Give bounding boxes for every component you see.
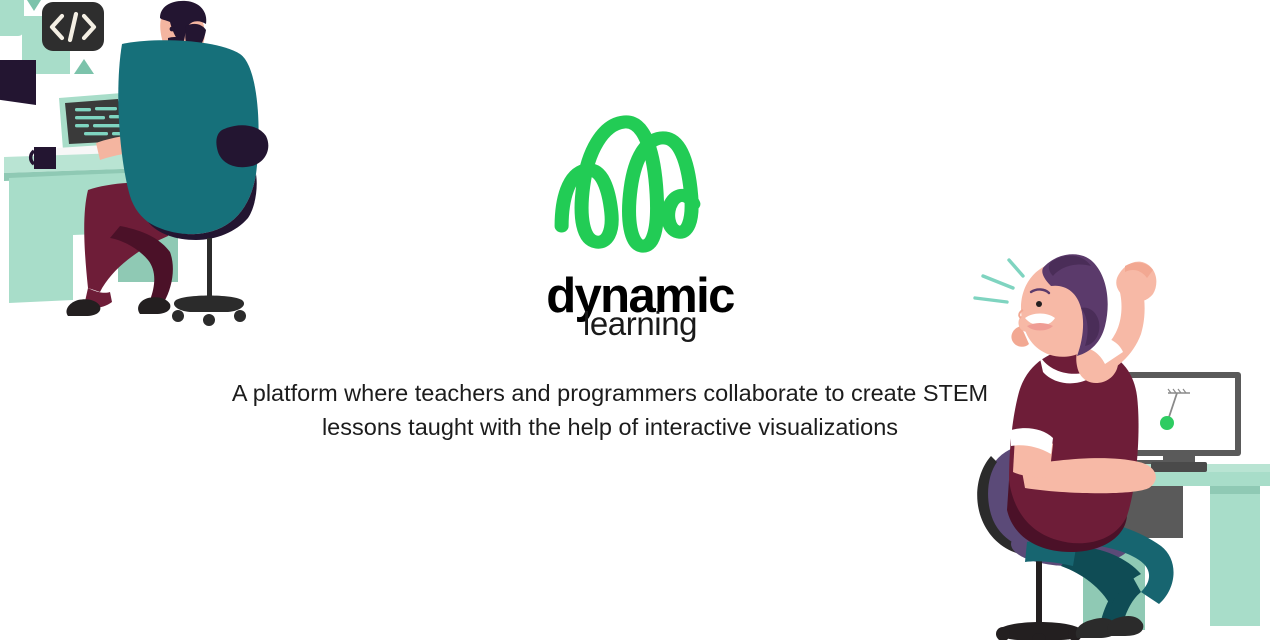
speed-lines-icon xyxy=(975,260,1023,302)
brand-logo xyxy=(510,108,730,258)
laptop-screen xyxy=(65,99,125,144)
pendulum-bob xyxy=(1160,416,1174,430)
eye xyxy=(170,27,175,32)
chair-post xyxy=(1036,554,1042,632)
deco-rect-dark xyxy=(0,60,36,105)
hero-tagline: A platform where teachers and programmer… xyxy=(230,376,990,444)
coffee-mug xyxy=(31,147,56,169)
code-badge-icon xyxy=(42,2,104,51)
deco-triangle-down-icon xyxy=(27,0,41,11)
chair-armrest xyxy=(216,125,268,167)
student-celebrating-illustration xyxy=(965,248,1280,640)
desk-leg xyxy=(1210,486,1260,626)
landing-hero: dynamic learning A platform where teache… xyxy=(0,0,1280,640)
person-head xyxy=(1011,254,1107,356)
monitor-stand xyxy=(1151,462,1207,472)
eye xyxy=(1036,301,1042,307)
deco-square-mint-1 xyxy=(0,0,24,36)
green-waveform-icon xyxy=(510,108,730,258)
monitor-screen xyxy=(1123,378,1235,450)
deco-triangle-up-icon xyxy=(74,59,94,74)
